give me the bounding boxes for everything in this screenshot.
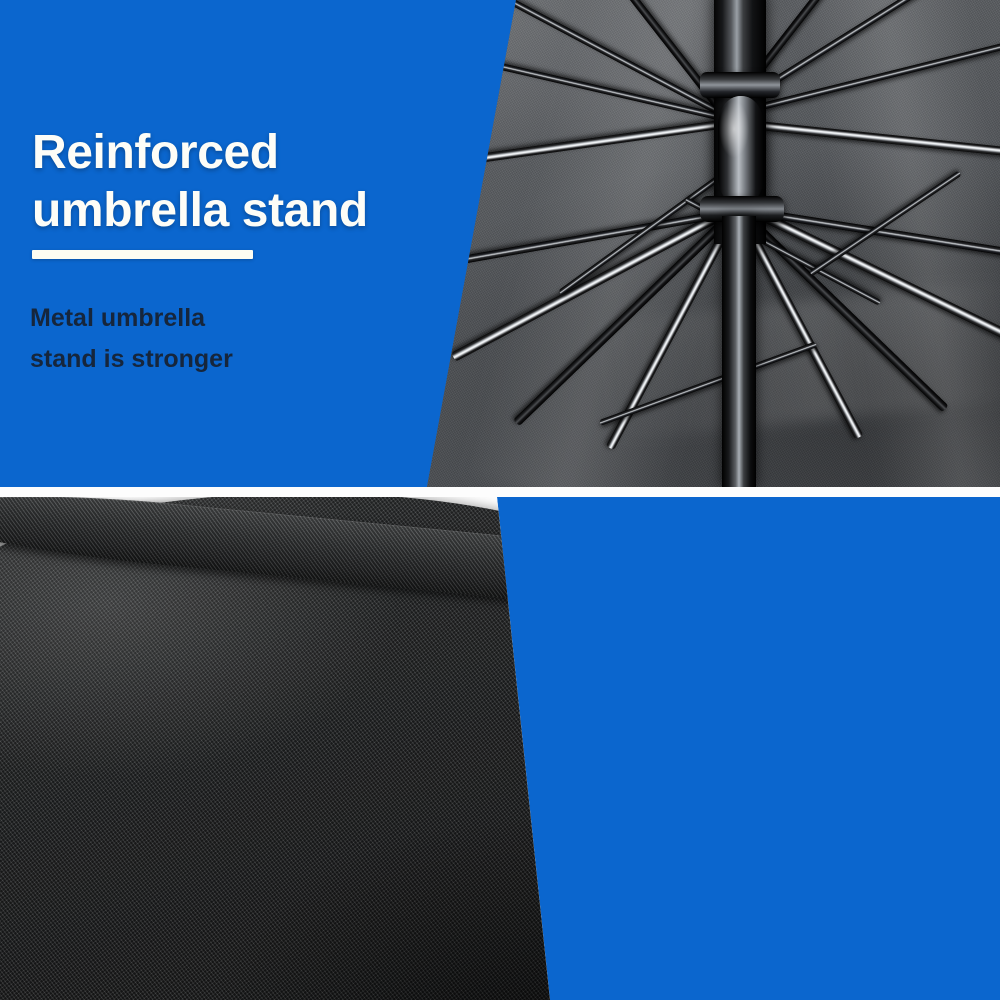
umbrella-stand-photo	[0, 0, 1000, 487]
headline-underline	[32, 250, 253, 259]
reinforced-metal-hub	[718, 96, 764, 206]
panel-headline: Reinforced umbrella stand	[32, 124, 452, 240]
feature-panel-wrap-design: Wrap design New and unique design Wrap d…	[0, 497, 1000, 1000]
feature-panel-reinforced-umbrella-stand: Reinforced umbrella stand Metal umbrella…	[0, 0, 1000, 487]
wrap-design-photo	[0, 497, 1000, 1000]
shaft-collar	[700, 72, 780, 98]
infographic-page: Reinforced umbrella stand Metal umbrella…	[0, 0, 1000, 1000]
panel-divider	[0, 487, 1000, 497]
panel-subtitle: Metal umbrella stand is stronger	[30, 298, 430, 380]
lower-shaft	[722, 216, 756, 487]
